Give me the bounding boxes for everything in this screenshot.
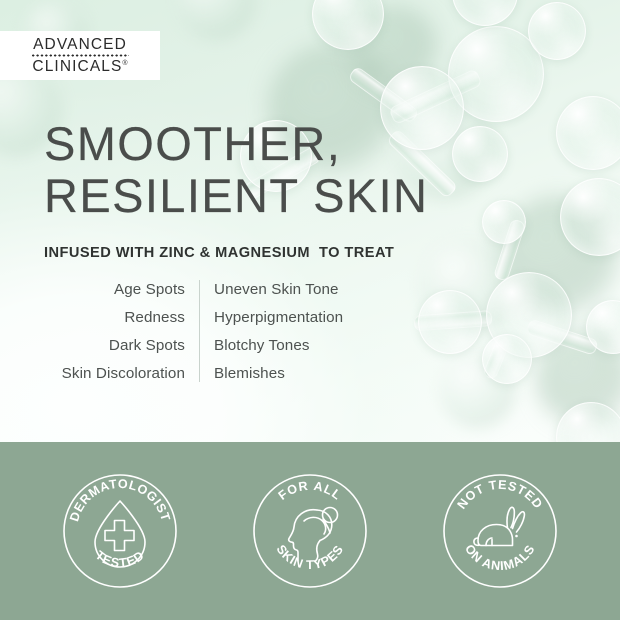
badge-not-tested-on-animals[interactable]: NOT TESTED ON ANIMALS <box>437 468 563 594</box>
badge-for-all-skin-types[interactable]: FOR ALL SKIN TYPES <box>247 468 373 594</box>
logo-dotted-divider <box>31 54 129 57</box>
molecule-sphere <box>482 334 532 384</box>
badge-top-label: FOR ALL <box>276 479 344 503</box>
product-marketing-banner: ADVANCED CLINICALS® SMOOTHER, RESILIENT … <box>0 0 620 620</box>
badge-bottom-label: TESTED <box>93 548 148 570</box>
skin-concerns-list: Age Spots Redness Dark Spots Skin Discol… <box>30 276 400 388</box>
headline-line-2: RESILIENT SKIN <box>44 170 428 222</box>
medical-cross-icon <box>105 521 134 551</box>
logo-text-clinicals: CLINICALS® <box>32 59 127 75</box>
list-item: Hyperpigmentation <box>214 304 343 332</box>
badge-top-label: NOT TESTED <box>455 478 546 512</box>
rabbit-icon <box>474 507 525 545</box>
molecule-sphere <box>452 0 518 26</box>
brand-logo[interactable]: ADVANCED CLINICALS® <box>0 31 160 80</box>
logo-text-advanced: ADVANCED <box>33 37 127 53</box>
list-item: Age Spots <box>30 276 185 304</box>
molecule-sphere <box>556 402 620 442</box>
list-item: Dark Spots <box>30 332 185 360</box>
badge-top-label: DERMATOLOGIST <box>67 477 173 523</box>
hero-background: ADVANCED CLINICALS® SMOOTHER, RESILIENT … <box>0 0 620 442</box>
badge-bottom-label: SKIN TYPES <box>274 542 347 572</box>
logo-clinicals-word: CLINICALS <box>32 58 122 75</box>
subheading: INFUSED WITH ZINC & MAGNESIUM TO TREAT <box>44 245 394 261</box>
list-item: Blemishes <box>214 360 343 388</box>
concerns-column-right: Uneven Skin Tone Hyperpigmentation Blotc… <box>200 276 343 388</box>
headline-line-1: SMOOTHER, <box>44 118 428 170</box>
list-item: Skin Discoloration <box>30 360 185 388</box>
list-item: Blotchy Tones <box>214 332 343 360</box>
registered-trademark-icon: ® <box>122 60 127 67</box>
concerns-column-left: Age Spots Redness Dark Spots Skin Discol… <box>30 276 199 388</box>
bokeh-bubble <box>176 0 256 40</box>
badge-dermatologist-tested[interactable]: DERMATOLOGIST TESTED <box>57 468 183 594</box>
page-title: SMOOTHER, RESILIENT SKIN <box>44 118 428 222</box>
molecule-sphere <box>556 96 620 170</box>
molecule-sphere <box>528 2 586 60</box>
list-item: Uneven Skin Tone <box>214 276 343 304</box>
molecule-sphere <box>482 200 526 244</box>
trust-badges-bar: DERMATOLOGIST TESTED <box>0 442 620 620</box>
molecule-sphere <box>312 0 384 50</box>
molecule-sphere <box>452 126 508 182</box>
molecule-sphere <box>560 178 620 256</box>
list-item: Redness <box>30 304 185 332</box>
molecule-sphere <box>418 290 482 354</box>
badge-bottom-label: ON ANIMALS <box>462 542 538 573</box>
